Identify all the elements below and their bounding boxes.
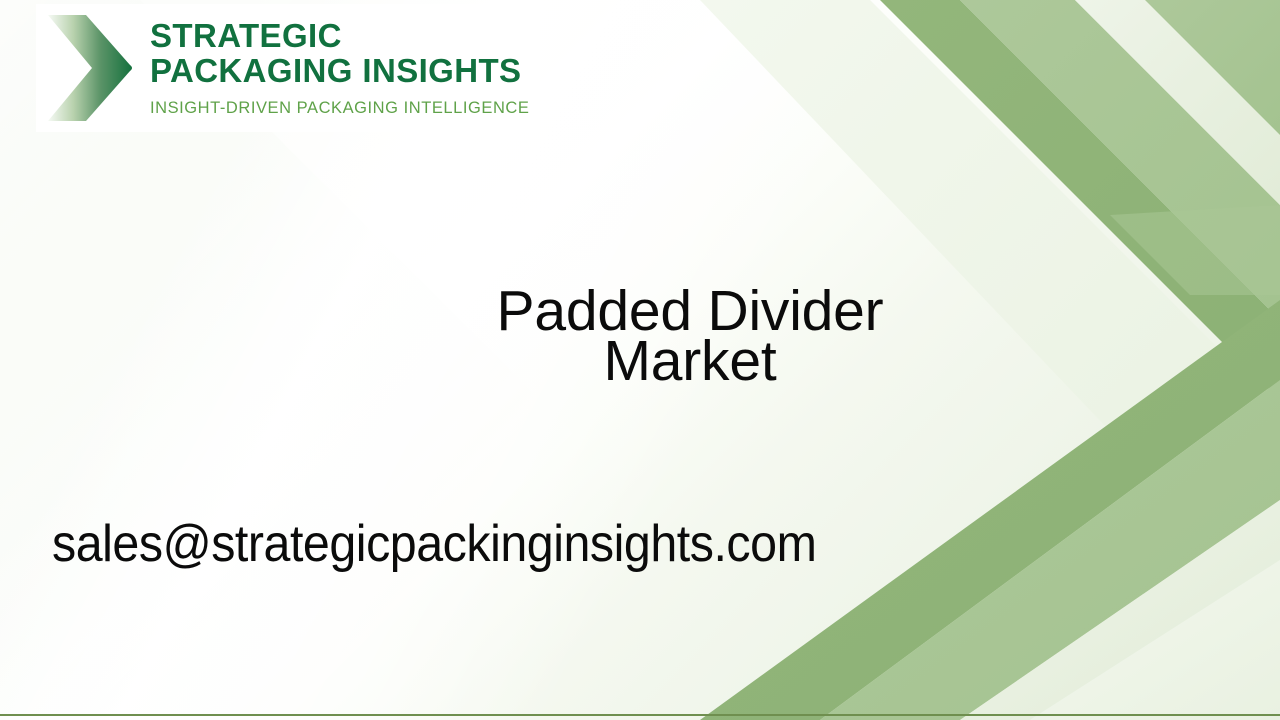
page-title: Padded Divider Market [390,286,990,386]
brand-name-line1: STRATEGIC [150,18,529,53]
brand-logo: STRATEGIC PACKAGING INSIGHTS INSIGHT-DRI… [36,4,540,132]
page-title-line2: Market [390,336,990,386]
bottom-divider-rule [0,714,1280,716]
title-slide: STRATEGIC PACKAGING INSIGHTS INSIGHT-DRI… [0,0,1280,720]
brand-tagline: INSIGHT-DRIVEN PACKAGING INTELLIGENCE [150,99,529,118]
brand-logo-text: STRATEGIC PACKAGING INSIGHTS INSIGHT-DRI… [150,18,529,118]
contact-email[interactable]: sales@strategicpackinginsights.com [52,513,816,575]
brand-name-line2: PACKAGING INSIGHTS [150,53,529,88]
chevron-mark-icon [40,9,136,127]
